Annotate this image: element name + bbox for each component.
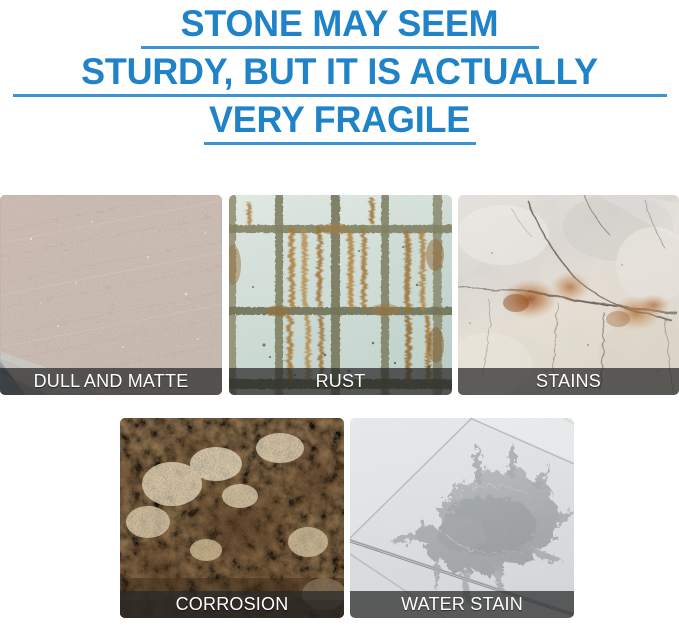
photo-rust (229, 195, 452, 395)
photo-corrosion (120, 418, 344, 618)
photo-water-stain (350, 418, 574, 618)
page-title: STONE MAY SEEM STURDY, BUT IT IS ACTUALL… (0, 0, 679, 148)
panel-caption-rust: RUST (229, 368, 452, 395)
panel-caption-dull-and-matte: DULL AND MATTE (0, 368, 222, 395)
photo-stains (458, 195, 679, 395)
panel-water-stain: WATER STAIN (350, 418, 574, 618)
headline-underline-1 (141, 46, 539, 49)
photo-dull-and-matte (0, 195, 222, 395)
headline-line-3: VERY FRAGILE (10, 100, 669, 140)
panel-caption-corrosion: CORROSION (120, 591, 344, 618)
headline-underline-3 (204, 142, 476, 145)
panel-stains: STAINS (458, 195, 679, 395)
panel-caption-water-stain: WATER STAIN (350, 591, 574, 618)
panel-caption-stains: STAINS (458, 368, 679, 395)
panel-rust: RUST (229, 195, 452, 395)
headline-underline-2 (13, 94, 667, 97)
panel-corrosion: CORROSION (120, 418, 344, 618)
headline-line-2: STURDY, BUT IT IS ACTUALLY (10, 52, 669, 92)
panel-dull-and-matte: DULL AND MATTE (0, 195, 222, 395)
poster-root: STONE MAY SEEM STURDY, BUT IT IS ACTUALL… (0, 0, 679, 626)
headline-line-1: STONE MAY SEEM (10, 4, 669, 44)
